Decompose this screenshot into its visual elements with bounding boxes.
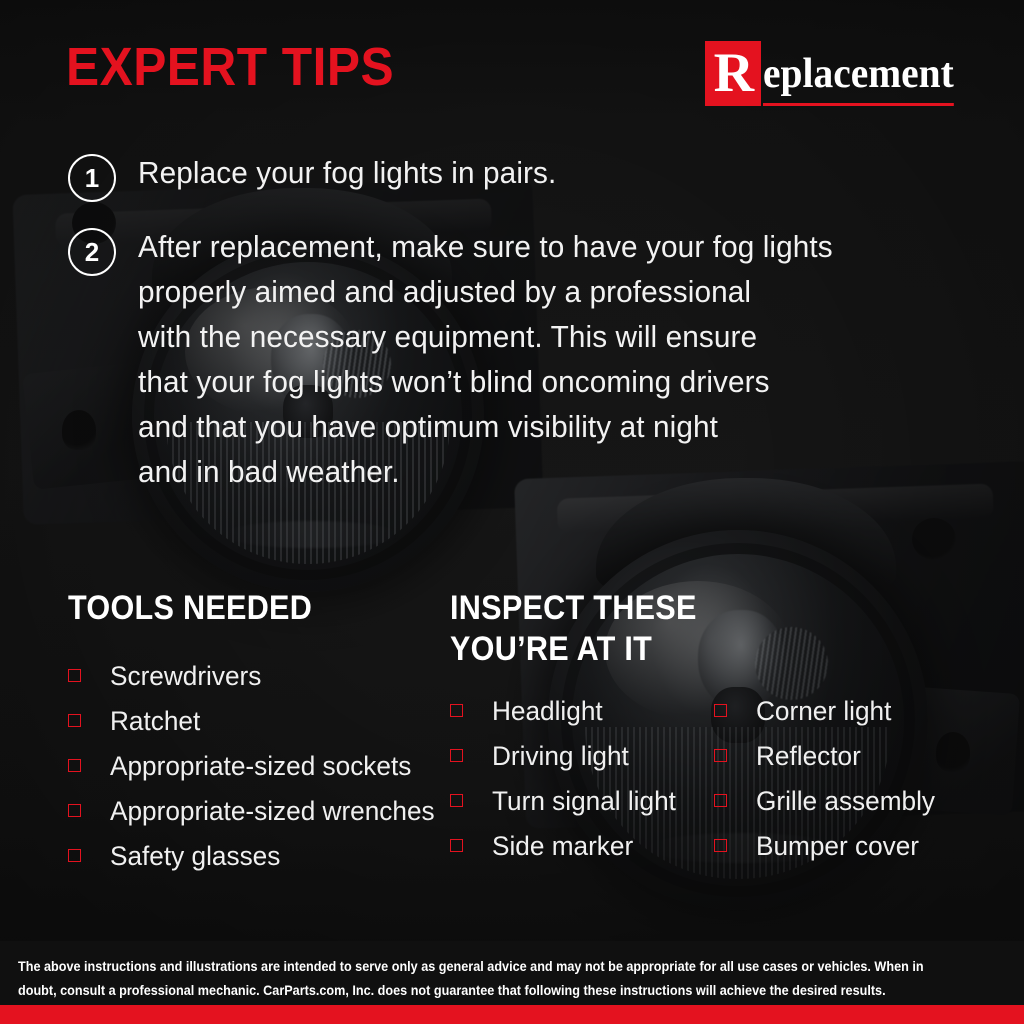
list-item[interactable]: Grille assembly [714,778,941,823]
tip-text: Replace your fog lights in pairs. [138,150,556,195]
inspect-grid: Headlight Driving light Turn signal ligh… [450,688,984,868]
page-title: EXPERT TIPS [66,40,394,94]
list-item-label: Bumper cover [756,831,919,861]
checkbox-icon[interactable] [450,749,463,762]
checkbox-icon[interactable] [714,749,727,762]
list-item[interactable]: Appropriate-sized wrenches [68,788,450,833]
list-item-label: Appropriate-sized sockets [110,751,411,781]
checklist-columns: TOOLS NEEDED Screwdrivers Ratchet Approp… [68,588,984,878]
list-item[interactable]: Corner light [714,688,941,733]
list-item[interactable]: Turn signal light [450,778,714,823]
list-item-label: Grille assembly [756,786,935,816]
list-item-label: Corner light [756,696,891,726]
list-item[interactable]: Appropriate-sized sockets [68,743,450,788]
list-item-label: Screwdrivers [110,661,261,691]
footer-disclaimer: The above instructions and illustrations… [18,955,937,1003]
tip-number-badge: 1 [68,154,116,202]
logo-wordmark: eplacement [763,51,954,106]
list-item-label: Safety glasses [110,841,280,871]
checkbox-icon[interactable] [714,839,727,852]
list-item[interactable]: Ratchet [68,698,450,743]
header: EXPERT TIPS [66,40,423,94]
list-item-label: Driving light [492,741,629,771]
checkbox-icon[interactable] [68,714,81,727]
list-item-label: Ratchet [110,706,200,736]
tips-list: 1 Replace your fog lights in pairs. 2 Af… [68,150,968,516]
checkbox-icon[interactable] [68,669,81,682]
footer: The above instructions and illustrations… [0,941,1024,1005]
list-item[interactable]: Side marker [450,823,714,868]
checkbox-icon[interactable] [450,704,463,717]
list-item[interactable]: Screwdrivers [68,653,450,698]
list-item[interactable]: Driving light [450,733,714,778]
list-item[interactable]: Reflector [714,733,941,778]
list-item-label: Turn signal light [492,786,676,816]
tip-number-badge: 2 [68,228,116,276]
list-item-label: Headlight [492,696,603,726]
checkbox-icon[interactable] [68,804,81,817]
tools-needed-list: Screwdrivers Ratchet Appropriate-sized s… [68,653,450,878]
tools-needed-heading: TOOLS NEEDED [68,588,412,629]
footer-accent-bar [0,1005,1024,1024]
list-item-label: Reflector [756,741,861,771]
checkbox-icon[interactable] [68,849,81,862]
inspect-these-heading: INSPECT THESE YOU’RE AT IT [450,588,931,670]
tools-needed-section: TOOLS NEEDED Screwdrivers Ratchet Approp… [68,588,450,878]
tip-item: 2 After replacement, make sure to have y… [68,224,968,494]
checkbox-icon[interactable] [68,759,81,772]
checkbox-icon[interactable] [714,704,727,717]
inspect-list-column-b: Corner light Reflector Grille assembly [714,688,941,868]
logo-initial: R [705,41,761,106]
brand-logo: R eplacement [705,41,966,106]
checkbox-icon[interactable] [450,839,463,852]
list-item-label: Side marker [492,831,633,861]
list-item[interactable]: Safety glasses [68,833,450,878]
tip-item: 1 Replace your fog lights in pairs. [68,150,968,202]
list-item-label: Appropriate-sized wrenches [110,796,435,826]
list-item[interactable]: Bumper cover [714,823,941,868]
inspect-these-section: INSPECT THESE YOU’RE AT IT Headlight Dri… [450,588,984,878]
checkbox-icon[interactable] [714,794,727,807]
list-item[interactable]: Headlight [450,688,714,733]
expert-tips-card: EXPERT TIPS R eplacement 1 Replace your … [0,0,1024,1024]
inspect-list-column-a: Headlight Driving light Turn signal ligh… [450,688,714,868]
tip-text: After replacement, make sure to have you… [138,224,833,494]
checkbox-icon[interactable] [450,794,463,807]
